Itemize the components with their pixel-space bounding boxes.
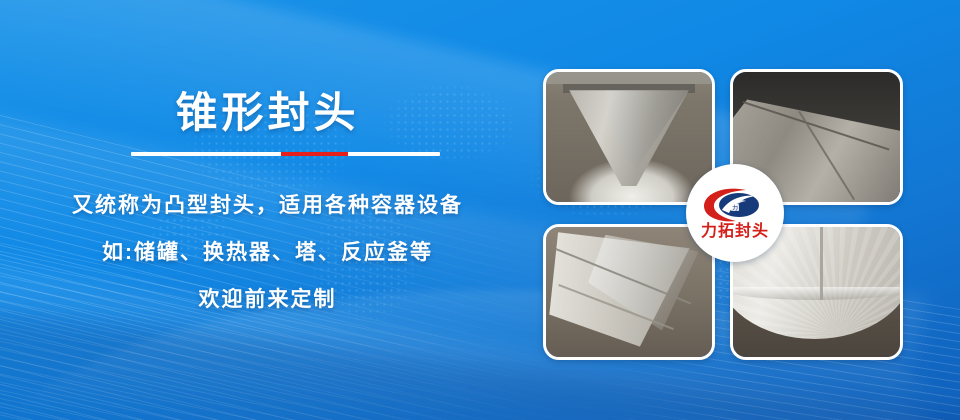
headline-block: 锥形封头 又统称为凸型封头，适用各种容器设备 如:储罐、换热器、塔、反应釜等 欢… bbox=[0, 0, 535, 420]
subtitle-line-2: 如:储罐、换热器、塔、反应釜等 bbox=[0, 229, 535, 276]
subtitle-line-3: 欢迎前来定制 bbox=[0, 276, 535, 323]
page-title: 锥形封头 bbox=[0, 92, 535, 134]
title-divider bbox=[131, 152, 440, 156]
photo-conical-head-workshop[interactable] bbox=[543, 69, 715, 205]
subtitle-line-1: 又统称为凸型封头，适用各种容器设备 bbox=[0, 182, 535, 229]
subtitle-group: 又统称为凸型封头，适用各种容器设备 如:储罐、换热器、塔、反应釜等 欢迎前来定制 bbox=[0, 182, 535, 323]
divider-accent bbox=[281, 152, 348, 156]
conical-head-photo-icon bbox=[546, 72, 712, 202]
conical-head-photo-icon bbox=[546, 227, 712, 357]
photo-conical-head-stacked[interactable] bbox=[543, 224, 715, 360]
logo-text: 力拓封头 bbox=[701, 224, 769, 240]
company-logo-badge[interactable]: 力 力拓封头 bbox=[686, 164, 784, 262]
swoosh-eye-icon: 力 bbox=[700, 187, 770, 223]
promo-banner: 锥形封头 又统称为凸型封头，适用各种容器设备 如:储罐、换热器、塔、反应釜等 欢… bbox=[0, 0, 960, 420]
